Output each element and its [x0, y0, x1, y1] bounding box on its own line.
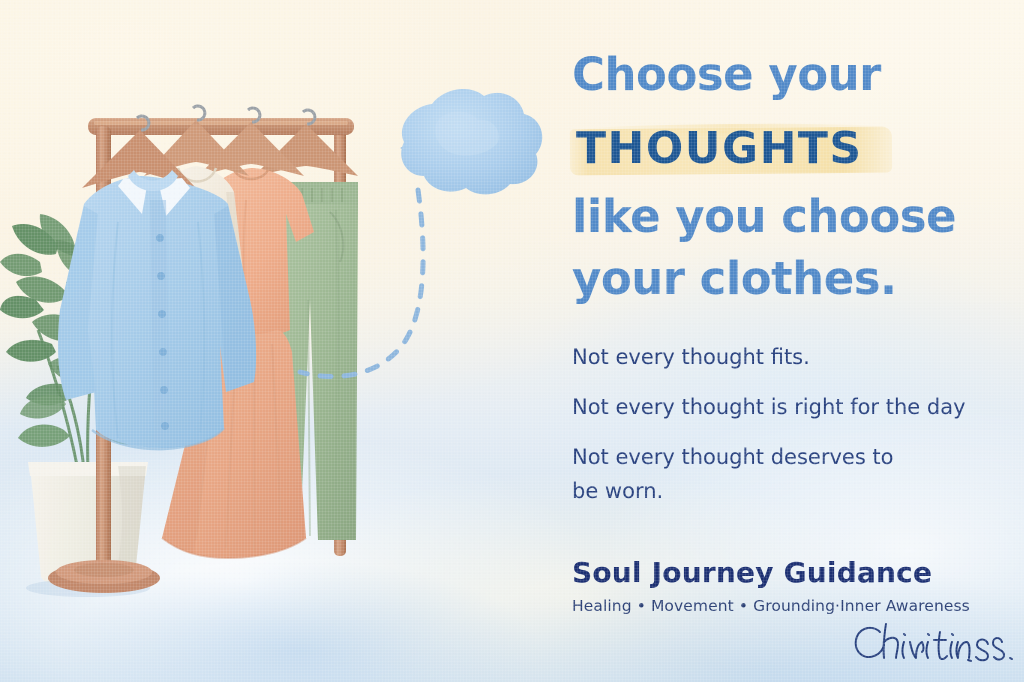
thought-cloud — [401, 89, 542, 194]
text-panel: Choose your THOUGHTS like you choose you… — [560, 0, 1024, 682]
body-line-1: Not every thought fits. — [572, 344, 1024, 370]
headline-line-2-wrapper: THOUGHTS — [570, 118, 863, 180]
poster-canvas: Choose your THOUGHTS like you choose you… — [0, 0, 1024, 682]
body-line-4: be worn. — [572, 478, 1024, 504]
body-line-2: Not every thought is right for the day — [572, 394, 1024, 420]
trouser-crease — [308, 300, 310, 536]
headline-line-4: your clothes. — [572, 254, 1024, 304]
headline-line-3: like you choose — [572, 192, 1024, 242]
headline-line-2: THOUGHTS — [570, 118, 863, 180]
brand-tagline: Healing • Movement • Grounding·Inner Awa… — [572, 597, 970, 615]
body-line-3: Not every thought deserves to — [572, 444, 1024, 470]
rack-base-inner — [74, 563, 134, 577]
brand-name: Soul Journey Guidance — [572, 556, 932, 589]
signature — [850, 618, 1020, 670]
cream-hanger-hook — [193, 106, 205, 120]
illustration-clothing-rack — [0, 0, 560, 682]
headline-line-1: Choose your — [572, 50, 1024, 100]
signature-christina-s — [850, 618, 1020, 670]
